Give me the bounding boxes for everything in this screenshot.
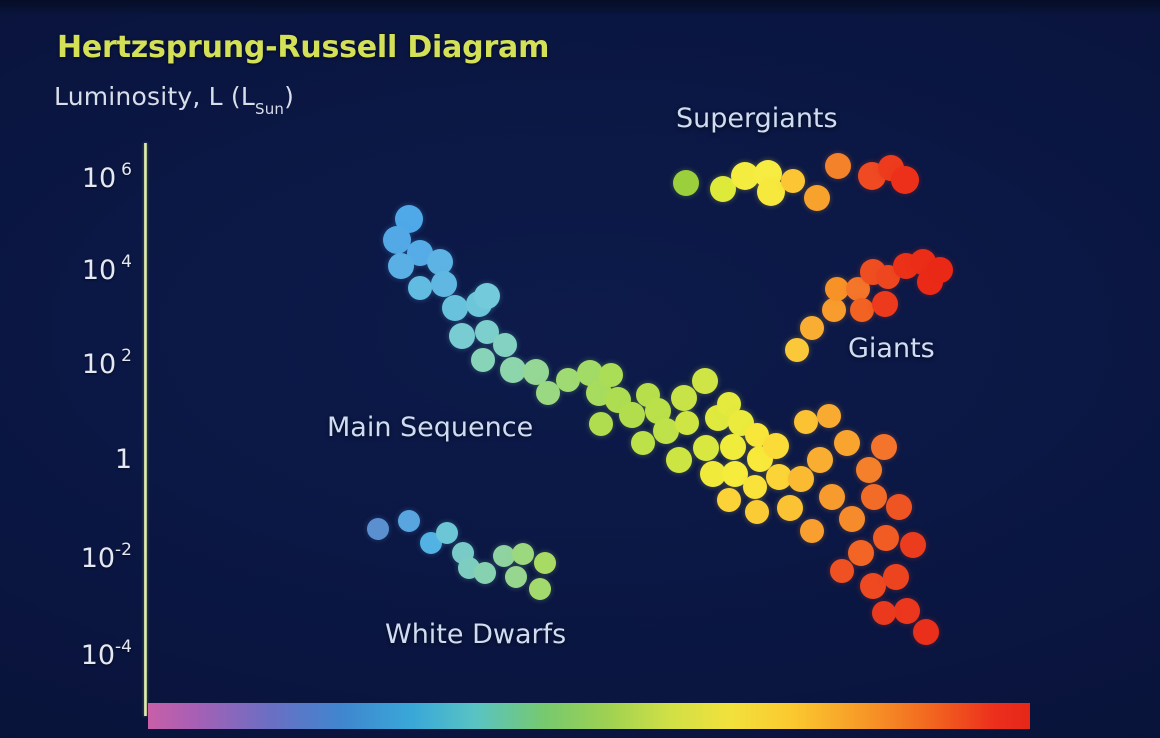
scatter-point [398, 510, 420, 532]
scatter-point [717, 488, 741, 512]
scatter-point [529, 578, 551, 600]
scatter-point [705, 405, 731, 431]
scatter-point [427, 249, 453, 275]
scatter-point [395, 205, 423, 233]
scatter-point [825, 153, 851, 179]
scatter-point [871, 434, 897, 460]
y-axis-tick-group: 106104102110-210-4 [0, 0, 132, 738]
y-axis-tick-label: 1 [115, 444, 132, 475]
y-tick-mantissa: 10 [82, 255, 116, 286]
y-tick-exponent: 2 [121, 346, 132, 366]
scatter-point [886, 494, 912, 520]
scatter-point [894, 598, 920, 624]
y-axis-tick-label: 10-2 [81, 542, 132, 574]
scatter-point [442, 295, 468, 321]
y-tick-exponent: -4 [115, 637, 132, 657]
y-axis-tick-label: 102 [82, 348, 132, 380]
annotation-supergiants: Supergiants [676, 103, 838, 134]
scatter-point [636, 383, 660, 407]
x-axis-tick-label: 10,000 [541, 734, 639, 738]
scatter-point [872, 291, 898, 317]
scatter-point [846, 277, 870, 301]
scatter-point [891, 166, 919, 194]
scatter-point [858, 162, 886, 190]
scatter-point [666, 447, 692, 473]
scatter-point [788, 466, 814, 492]
scatter-point [471, 348, 495, 372]
scatter-point [474, 283, 500, 309]
scatter-point [619, 402, 645, 428]
scatter-point [728, 410, 754, 436]
scatter-point [675, 411, 699, 435]
scatter-point [523, 359, 549, 385]
scatter-point [653, 418, 679, 444]
scatter-point [794, 410, 818, 434]
scatter-point [577, 360, 603, 386]
scatter-point [822, 298, 846, 322]
scatter-point [766, 464, 792, 490]
scatter-point [431, 271, 457, 297]
scatter-point [785, 338, 809, 362]
y-tick-mantissa: 10 [81, 640, 115, 671]
scatter-point [645, 398, 671, 424]
scatter-point [717, 392, 741, 416]
scatter-point [693, 435, 719, 461]
scatter-point [825, 277, 849, 301]
scatter-point [449, 323, 475, 349]
scatter-point [458, 557, 480, 579]
scatter-point [913, 619, 939, 645]
scatter-point [807, 447, 833, 473]
scatter-point [745, 423, 769, 447]
scatter-point [512, 543, 534, 565]
hr-diagram-figure: Hertzsprung-Russell Diagram Luminosity, … [0, 0, 1160, 738]
scatter-point [872, 601, 896, 625]
y-axis-label-subscript: Sun [255, 100, 284, 118]
scatter-point [420, 532, 442, 554]
y-tick-mantissa: 10 [82, 349, 116, 380]
scatter-point [747, 446, 773, 472]
annotation-giants: Giants [848, 333, 935, 364]
scatter-point [876, 265, 900, 289]
scatter-point [673, 170, 699, 196]
scatter-point [800, 316, 824, 340]
scatter-point [722, 461, 748, 487]
scatter-point [388, 253, 414, 279]
scatter-point [710, 176, 736, 202]
y-tick-mantissa: 10 [81, 543, 115, 574]
scatter-point [777, 495, 803, 521]
scatter-point [631, 431, 655, 455]
top-edge-band [0, 0, 1160, 14]
scatter-point [910, 249, 936, 275]
scatter-point [817, 404, 841, 428]
scatter-point [475, 320, 499, 344]
scatter-point [878, 155, 904, 181]
scatter-point [505, 566, 527, 588]
scatter-point [436, 522, 458, 544]
y-tick-mantissa: 10 [82, 163, 116, 194]
x-axis-tick-label: 5000 [769, 734, 840, 738]
scatter-point [873, 525, 899, 551]
scatter-point [893, 253, 919, 279]
scatter-point [754, 160, 782, 188]
scatter-point [804, 185, 830, 211]
scatter-point [407, 240, 433, 266]
scatter-point [861, 484, 887, 510]
scatter-point [743, 475, 767, 499]
y-axis-tick-label: 106 [82, 162, 132, 194]
scatter-point [367, 518, 389, 540]
y-tick-exponent: 6 [121, 160, 132, 180]
scatter-point [830, 559, 854, 583]
scatter-point [671, 385, 697, 411]
annotation-white-dwarfs: White Dwarfs [385, 619, 566, 650]
scatter-point [848, 540, 874, 566]
y-axis-line [144, 143, 147, 716]
y-tick-exponent: 4 [121, 252, 132, 272]
x-axis-tick-label: 20,000 [326, 734, 424, 738]
annotation-main-sequence: Main Sequence [327, 412, 533, 443]
scatter-point [586, 380, 612, 406]
temperature-colorbar [148, 703, 1030, 729]
scatter-point [731, 162, 759, 190]
scatter-point [900, 532, 926, 558]
scatter-point [856, 457, 882, 483]
y-axis-tick-label: 10-4 [81, 639, 132, 671]
scatter-point [860, 259, 886, 285]
scatter-point [452, 542, 474, 564]
scatter-point [599, 363, 623, 387]
scatter-point [500, 357, 526, 383]
scatter-point [781, 169, 805, 193]
scatter-point [605, 387, 631, 413]
scatter-point [466, 291, 492, 317]
y-tick-mantissa: 1 [115, 444, 132, 475]
scatter-point [917, 269, 943, 295]
y-axis-label-close: ) [284, 82, 294, 111]
scatter-point [883, 564, 909, 590]
scatter-point [493, 333, 517, 357]
scatter-point [850, 298, 874, 322]
scatter-point [763, 433, 789, 459]
scatter-point [700, 461, 726, 487]
scatter-point [927, 257, 953, 283]
y-axis-tick-label: 104 [82, 254, 132, 286]
x-axis-tick-label: 40,000 [111, 734, 209, 738]
y-tick-exponent: -2 [115, 540, 132, 560]
scatter-point [860, 573, 886, 599]
scatter-point [834, 430, 860, 456]
scatter-point [589, 412, 613, 436]
scatter-point [745, 500, 769, 524]
scatter-point [839, 506, 865, 532]
scatter-point [474, 562, 496, 584]
scatter-point [408, 276, 432, 300]
scatter-point [534, 552, 556, 574]
x-axis-tick-label: 2500 [969, 734, 1040, 738]
scatter-point [819, 484, 845, 510]
scatter-point [757, 178, 785, 206]
scatter-point [800, 519, 824, 543]
scatter-point [536, 381, 560, 405]
scatter-point [692, 368, 718, 394]
scatter-point [556, 368, 580, 392]
scatter-point [383, 226, 411, 254]
scatter-point [493, 545, 515, 567]
scatter-point [720, 434, 746, 460]
